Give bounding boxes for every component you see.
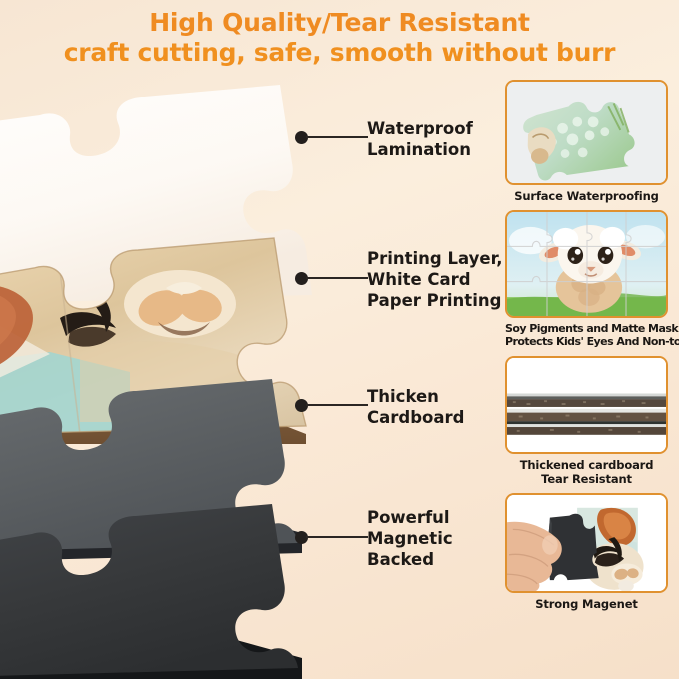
callout-label-line-2: White Card	[367, 270, 471, 289]
callout-label: Printing Layer, White Card Paper Printin…	[367, 248, 503, 311]
callout-label-line-1: Printing Layer,	[367, 249, 503, 268]
title-line-2: craft cutting, safe, smooth without burr	[0, 38, 679, 68]
feature-panel-soy-pigments: Soy Pigments and Matte Mask Protects Kid…	[505, 210, 668, 349]
callout-label-line-2: Magnetic	[367, 529, 453, 548]
panel-image-frame	[505, 210, 668, 318]
panel-caption-line-2: Protects Kids' Eyes And Non-toxic	[505, 335, 679, 348]
callout-label-line-1: Thicken	[367, 387, 439, 406]
magnetic-layer	[0, 492, 350, 679]
panel-caption-line-1: Thickened cardboard	[520, 458, 654, 472]
callout-label-line-1: Waterproof	[367, 119, 473, 138]
page-title: High Quality/Tear Resistant craft cuttin…	[0, 8, 679, 67]
infographic-root: High Quality/Tear Resistant craft cuttin…	[0, 0, 679, 679]
callout-leader-line	[306, 404, 368, 406]
hand-holding-magnetic-piece-photo	[507, 495, 666, 591]
feature-panel-surface-waterproofing: Surface Waterproofing	[505, 80, 668, 203]
panel-caption: Soy Pigments and Matte Mask Protects Kid…	[505, 322, 668, 349]
panel-caption-line-1: Surface Waterproofing	[514, 189, 658, 203]
panel-caption-line-1: Soy Pigments and Matte Mask	[505, 322, 678, 335]
feature-panel-rail: Surface Waterproofing	[505, 80, 668, 618]
panel-caption: Surface Waterproofing	[505, 189, 668, 203]
title-line-1: High Quality/Tear Resistant	[0, 8, 679, 38]
panel-image-frame	[505, 493, 668, 593]
callout-label-line-3: Backed	[367, 550, 434, 569]
callout-label-line-2: Lamination	[367, 140, 471, 159]
callout-label: Waterproof Lamination	[367, 118, 473, 160]
callout-label-line-2: Cardboard	[367, 408, 464, 427]
cardboard-edge-layers-photo	[507, 358, 666, 452]
exploded-layer-illustration	[0, 72, 500, 679]
panel-caption-line-1: Strong Magenet	[535, 597, 637, 611]
panel-caption: Thickened cardboard Tear Resistant	[505, 458, 668, 486]
callout-label-line-3: Paper Printing	[367, 291, 501, 310]
feature-panel-thickened-cardboard: Thickened cardboard Tear Resistant	[505, 356, 668, 486]
feature-panel-strong-magnet: Strong Magenet	[505, 493, 668, 611]
callout-leader-line	[306, 277, 368, 279]
callout-leader-line	[306, 136, 368, 138]
waterproof-puzzle-piece-photo	[507, 82, 666, 183]
callout-label: Thicken Cardboard	[367, 386, 464, 428]
panel-image-frame	[505, 80, 668, 185]
callout-label: Powerful Magnetic Backed	[367, 507, 453, 570]
panel-image-frame	[505, 356, 668, 454]
panel-caption-line-2: Tear Resistant	[541, 472, 632, 486]
lamb-puzzle-photo	[507, 212, 666, 316]
callout-leader-line	[306, 536, 368, 538]
panel-caption: Strong Magenet	[505, 597, 668, 611]
callout-label-line-1: Powerful	[367, 508, 450, 527]
